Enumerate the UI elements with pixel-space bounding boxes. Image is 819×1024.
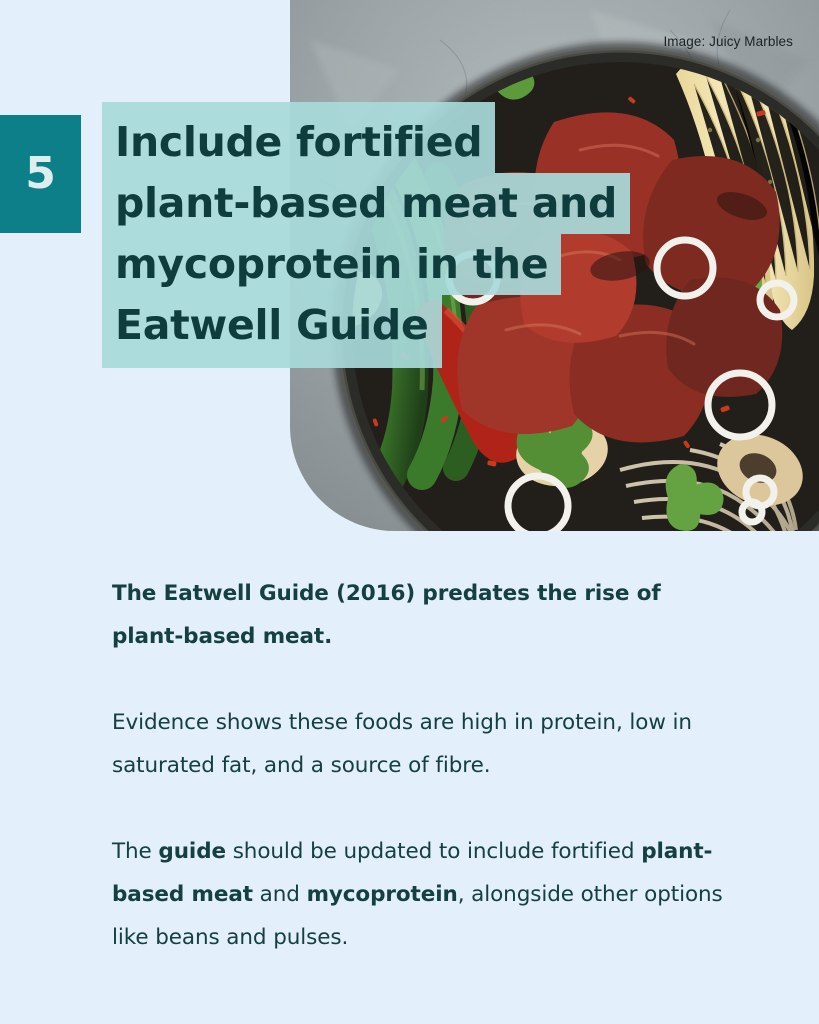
title-line-4: Eatwell Guide (102, 295, 442, 368)
body-paragraph: Evidence shows these foods are high in p… (112, 701, 732, 787)
plain-text: The (112, 839, 158, 864)
page-title: Include fortified plant-based meat and m… (102, 102, 662, 368)
title-line-2: plant-based meat and (102, 173, 630, 234)
plain-text: Evidence shows these foods are high in p… (112, 710, 692, 778)
emphasis-text: The Eatwell Guide (2016) predates the ri… (112, 581, 661, 649)
plain-text: and (253, 882, 307, 907)
body-copy: The Eatwell Guide (2016) predates the ri… (112, 572, 732, 959)
image-credit: Image: Juicy Marbles (663, 34, 793, 49)
step-number: 5 (25, 152, 56, 196)
title-line-1: Include fortified (102, 102, 495, 173)
emphasis-text: mycoprotein (307, 882, 458, 907)
emphasis-text: guide (158, 839, 226, 864)
title-line-3: mycoprotein in the (102, 234, 561, 295)
plain-text: should be updated to include fortified (226, 839, 641, 864)
step-number-badge: 5 (0, 115, 81, 233)
body-paragraph: The guide should be updated to include f… (112, 830, 732, 959)
body-paragraph: The Eatwell Guide (2016) predates the ri… (112, 572, 732, 658)
